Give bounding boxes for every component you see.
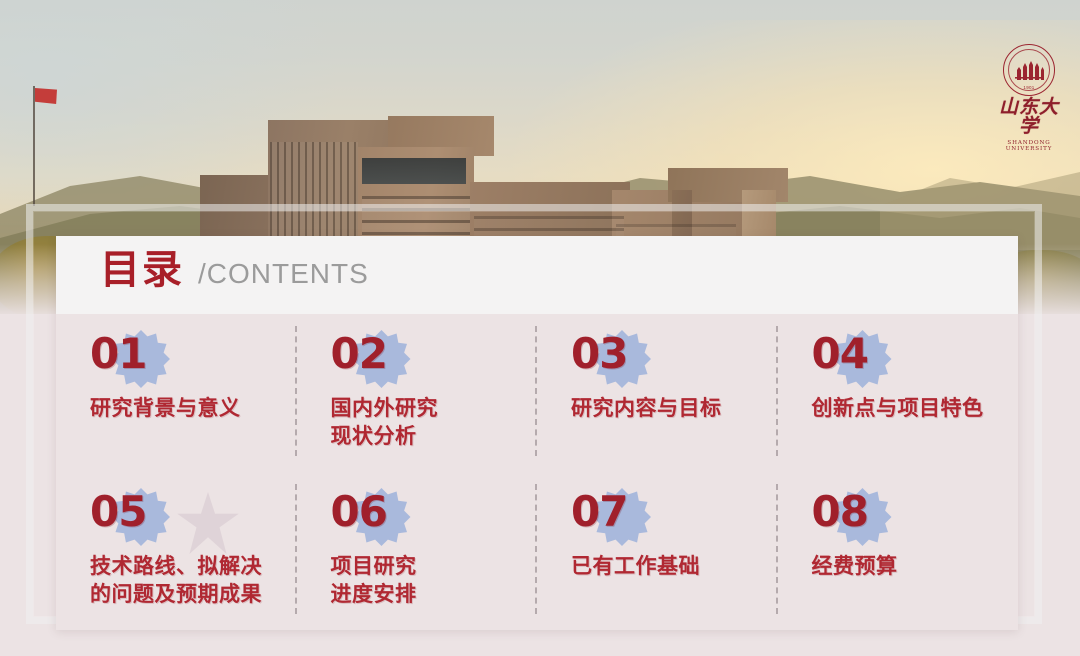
toc-item-07[interactable]: 07 已有工作基础 [537,472,778,630]
toc-item-05[interactable]: 05 技术路线、拟解决 的问题及预期成果 [56,472,297,630]
toc-number: 01 [90,332,146,376]
toc-label: 创新点与项目特色 [812,394,997,422]
toc-number: 02 [331,332,387,376]
toc-item-01[interactable]: 01 研究背景与意义 [56,314,297,472]
card-header-band: 目录 /CONTENTS [56,236,1018,314]
title-english: /CONTENTS [198,260,369,288]
toc-label: 已有工作基础 [571,552,756,580]
number-badge-03: 03 [571,332,756,388]
flag-pole [33,86,35,206]
toc-label: 国内外研究 现状分析 [331,394,516,451]
number-badge-08: 08 [812,490,997,546]
toc-item-02[interactable]: 02 国内外研究 现状分析 [297,314,538,472]
logo-name-chinese: 山东大学 [992,98,1066,136]
toc-label: 项目研究 进度安排 [331,552,516,609]
toc-label: 研究背景与意义 [90,394,275,422]
toc-number: 07 [571,490,627,534]
red-flag-icon [35,88,57,104]
number-badge-02: 02 [331,332,516,388]
number-badge-06: 06 [331,490,516,546]
presentation-slide: 目录 /CONTENTS 01 研究背景与意义 02 国内外研究 现状分析 [0,0,1080,656]
toc-label: 技术路线、拟解决 的问题及预期成果 [90,552,275,609]
toc-item-08[interactable]: 08 经费预算 [778,472,1019,630]
toc-grid: 01 研究背景与意义 02 国内外研究 现状分析 03 研究内容与目标 [56,314,1018,630]
university-logo: 1901 山东大学 SHANDONG UNIVERSITY [992,44,1066,140]
toc-number: 05 [90,490,146,534]
page-title: 目录 /CONTENTS [100,250,369,290]
toc-number: 08 [812,490,868,534]
toc-number: 03 [571,332,627,376]
number-badge-01: 01 [90,332,275,388]
toc-label: 经费预算 [812,552,997,580]
number-badge-04: 04 [812,332,997,388]
toc-label: 研究内容与目标 [571,394,756,422]
glass-band [362,158,466,184]
number-badge-05: 05 [90,490,275,546]
title-chinese: 目录 [100,250,184,290]
number-badge-07: 07 [571,490,756,546]
contents-card: 目录 /CONTENTS 01 研究背景与意义 02 国内外研究 现状分析 [56,236,1018,630]
toc-number: 04 [812,332,868,376]
mountain-motif-icon [1014,61,1044,81]
ghost-star-icon [176,492,240,554]
toc-item-06[interactable]: 06 项目研究 进度安排 [297,472,538,630]
toc-number: 06 [331,490,387,534]
logo-name-english: SHANDONG UNIVERSITY [992,140,1066,152]
emblem-founded-year: 1901 [1004,85,1054,90]
toc-item-03[interactable]: 03 研究内容与目标 [537,314,778,472]
shandong-university-emblem-icon: 1901 [1003,44,1055,96]
toc-item-04[interactable]: 04 创新点与项目特色 [778,314,1019,472]
